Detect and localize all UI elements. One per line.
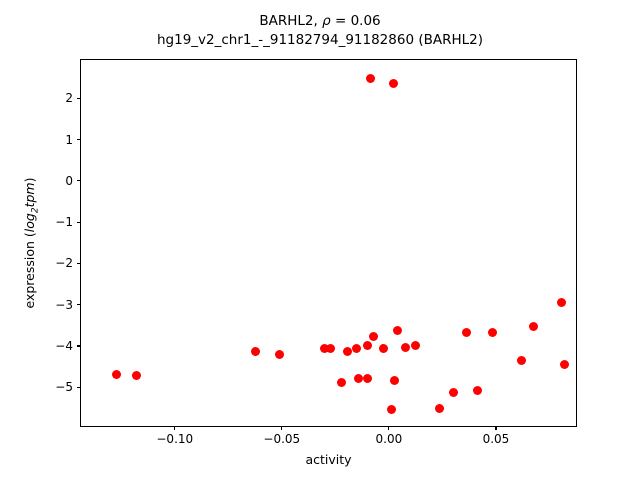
y-axis-label: expression (log2tpm) (22, 59, 41, 427)
x-axis-label: activity (80, 452, 577, 467)
data-point (560, 360, 569, 369)
data-point (449, 388, 458, 397)
plot-axes: −0.10−0.050.000.05210−1−2−3−4−5 (80, 59, 577, 427)
y-tick (77, 98, 81, 99)
data-point (363, 374, 372, 383)
y-axis-label-log: log (22, 213, 37, 232)
y-tick (77, 139, 81, 140)
y-tick-label: −4 (55, 339, 73, 353)
data-point (369, 332, 378, 341)
y-axis-label-sub: 2 (31, 207, 41, 213)
data-point (275, 350, 284, 359)
x-tick (281, 426, 282, 430)
chart-title-separator: , (314, 13, 323, 29)
y-axis-label-unit: tpm (22, 182, 37, 207)
y-tick-label: −2 (55, 256, 73, 270)
data-point (517, 356, 526, 365)
data-point (401, 343, 410, 352)
data-point (390, 376, 399, 385)
x-tick-label: 0.05 (483, 432, 510, 446)
data-point (379, 344, 388, 353)
data-point (462, 328, 471, 337)
data-point (326, 344, 335, 353)
data-point (529, 322, 538, 331)
chart-title: BARHL2, ρ = 0.06 (0, 12, 640, 31)
y-axis-label-prefix: expression ( (22, 232, 37, 308)
data-point (251, 347, 260, 356)
x-tick (388, 426, 389, 430)
chart-title-gene: BARHL2 (259, 13, 313, 29)
scatter-figure: BARHL2, ρ = 0.06 hg19_v2_chr1_-_91182794… (0, 0, 640, 480)
x-tick-label: −0.05 (263, 432, 300, 446)
y-tick (77, 345, 81, 346)
y-tick (77, 180, 81, 181)
chart-title-block: BARHL2, ρ = 0.06 hg19_v2_chr1_-_91182794… (0, 12, 640, 50)
data-point (473, 386, 482, 395)
y-tick-label: −1 (55, 215, 73, 229)
y-tick-label: −5 (55, 380, 73, 394)
y-axis-label-suffix: ) (22, 178, 37, 183)
y-tick (77, 387, 81, 388)
data-point (343, 347, 352, 356)
data-point (387, 405, 396, 414)
y-tick-label: 0 (65, 174, 73, 188)
plot-data-area (81, 60, 576, 426)
x-tick (495, 426, 496, 430)
data-point (363, 341, 372, 350)
y-tick-label: −3 (55, 298, 73, 312)
rho-symbol: ρ (322, 13, 331, 29)
data-point (488, 328, 497, 337)
data-point (112, 370, 121, 379)
rho-value: 0.06 (351, 13, 381, 29)
data-point (393, 326, 402, 335)
y-tick-label: 2 (65, 91, 73, 105)
x-tick (174, 426, 175, 430)
data-point (132, 371, 141, 380)
data-point (389, 79, 398, 88)
data-point (411, 341, 420, 350)
y-tick (77, 222, 81, 223)
chart-subtitle: hg19_v2_chr1_-_91182794_91182860 (BARHL2… (0, 31, 640, 50)
data-point (337, 378, 346, 387)
data-point (354, 374, 363, 383)
y-tick-label: 1 (65, 133, 73, 147)
x-tick-label: 0.00 (376, 432, 403, 446)
data-point (557, 298, 566, 307)
y-tick (77, 263, 81, 264)
x-tick-label: −0.10 (156, 432, 193, 446)
data-point (366, 74, 375, 83)
data-point (435, 404, 444, 413)
data-point (352, 344, 361, 353)
rho-equals: = (331, 13, 351, 29)
y-tick (77, 304, 81, 305)
